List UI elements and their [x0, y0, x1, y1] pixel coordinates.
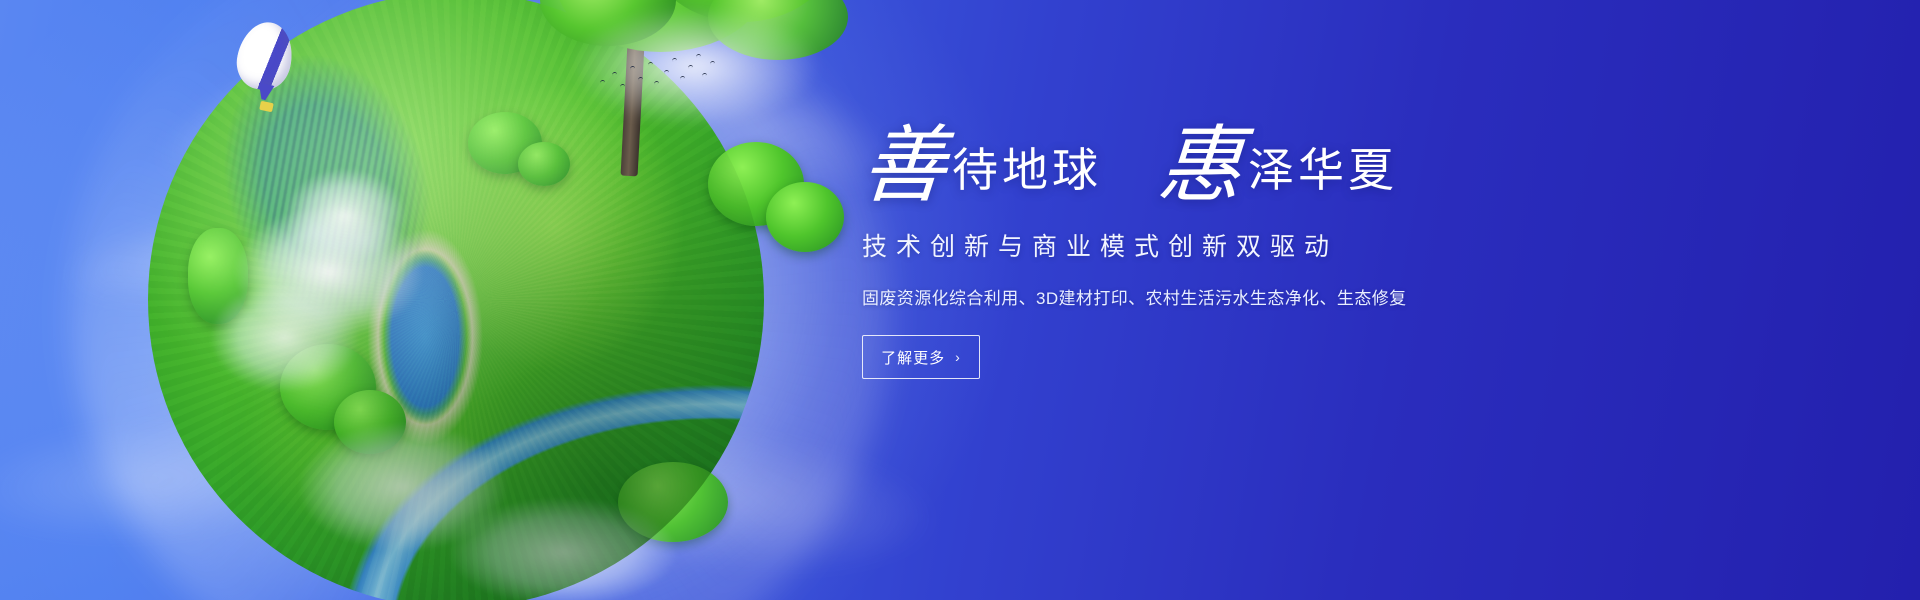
- learn-more-button[interactable]: 了解更多 ›: [862, 335, 980, 379]
- tree-cluster: [766, 182, 844, 252]
- headline-phrase-one: 善 待地球: [862, 128, 1102, 205]
- hot-air-balloon: [238, 22, 292, 118]
- hero-banner: 善 待地球 惠 泽华夏 技术创新与商业模式创新双驱动 固废资源化综合利用、3D建…: [0, 0, 1920, 600]
- globe-cloud: [210, 282, 360, 392]
- chevron-right-icon: ›: [955, 349, 961, 365]
- globe-cloud: [284, 168, 406, 264]
- headline-lead-glyph: 惠: [1155, 128, 1244, 205]
- headline: 善 待地球 惠 泽华夏: [862, 128, 1482, 205]
- balloon-envelope: [232, 17, 299, 95]
- bird-flock: [596, 50, 716, 96]
- description: 固废资源化综合利用、3D建材打印、农村生活污水生态净化、生态修复: [862, 284, 1482, 309]
- learn-more-label: 了解更多: [881, 347, 945, 368]
- headline-phrase-two: 惠 泽华夏: [1158, 128, 1398, 205]
- subtitle: 技术创新与商业模式创新双驱动: [862, 227, 1482, 263]
- headline-rest: 泽华夏: [1248, 147, 1398, 205]
- headline-rest: 待地球: [952, 147, 1102, 205]
- banner-copy: 善 待地球 惠 泽华夏 技术创新与商业模式创新双驱动 固废资源化综合利用、3D建…: [862, 128, 1482, 379]
- balloon-basket: [259, 101, 274, 113]
- globe-cloud: [448, 497, 678, 600]
- headline-lead-glyph: 善: [859, 128, 948, 205]
